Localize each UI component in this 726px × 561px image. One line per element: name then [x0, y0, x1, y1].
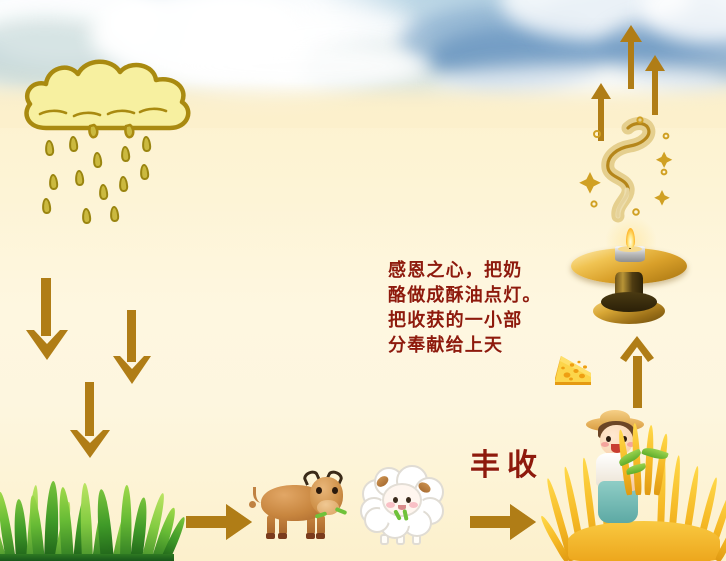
cloud-puff	[170, 44, 430, 88]
lamp-flame	[626, 228, 635, 248]
sheep-wool-puff	[396, 465, 428, 497]
grass-icon	[0, 466, 174, 561]
raindrop-icon	[109, 206, 119, 223]
raindrop-icon	[139, 164, 149, 181]
cow-grass-bite	[315, 511, 328, 519]
farmer-eye	[622, 436, 627, 442]
cow-leg	[307, 515, 315, 535]
raindrop-icon	[44, 140, 54, 157]
caption-line-2: 酪做成酥油点灯。	[388, 283, 588, 308]
cow-leg	[279, 515, 287, 535]
cloud-puff	[300, 40, 530, 96]
sheep-ear	[417, 480, 433, 495]
farmer-blush	[627, 442, 635, 447]
cow-leg	[267, 515, 275, 535]
farmer-eye	[606, 436, 611, 442]
sheep-face	[382, 483, 422, 517]
lamp-wax	[618, 246, 642, 252]
sky-gradient	[0, 0, 726, 128]
sun-glow	[120, 0, 420, 122]
cloud-puff	[640, 0, 726, 44]
sky-horizon-fade	[0, 82, 726, 128]
caption-line-4: 分奉献给上天	[388, 333, 588, 358]
lamp-wick	[629, 242, 631, 249]
sheep-wool-puff	[380, 511, 410, 539]
cloud-puff	[540, 0, 726, 66]
sheep-grass-bite	[402, 509, 408, 521]
harvest-label: 丰收	[470, 440, 544, 484]
arrow-down-head	[26, 330, 68, 360]
cloud-puff	[90, 0, 300, 80]
lamp-base-shadow	[601, 292, 657, 312]
sheep-wool-puff	[414, 477, 444, 507]
sheep-mouth	[398, 505, 406, 510]
sheep-ear	[375, 474, 391, 489]
raindrops-group	[16, 128, 206, 238]
sheep-wool-puff	[402, 509, 432, 537]
arrow-up-sky-1	[620, 25, 642, 89]
sparkle-icon	[579, 152, 672, 206]
wheat-background	[564, 441, 724, 561]
farmer-arm	[620, 467, 641, 493]
sheep-wool-core	[380, 487, 424, 527]
raindrop-icon	[68, 136, 78, 153]
farmer-head	[600, 425, 633, 456]
butter-lamp-icon	[571, 232, 687, 332]
cow-hoof	[278, 533, 287, 539]
sheep-eye	[393, 497, 398, 503]
arrow-down-head	[113, 356, 151, 384]
arrow-up-head	[620, 336, 654, 362]
arrow-up-sky-2	[645, 55, 665, 115]
sheep-cheek	[386, 502, 395, 508]
cow-leg	[317, 515, 325, 535]
agriculture-cycle-illustration: 感恩之心，把奶 酪做成酥油点灯。 把收获的一小部 分奉献给上天 丰收	[0, 0, 726, 561]
caption-text: 感恩之心，把奶 酪做成酥油点灯。 把收获的一小部 分奉献给上天	[388, 258, 588, 358]
farmer-hair	[598, 421, 634, 439]
sheep-grass-bite	[393, 509, 402, 521]
sky-background	[0, 0, 726, 128]
caption-line-3: 把收获的一小部	[388, 308, 588, 333]
raindrop-icon	[81, 208, 91, 225]
cow-eye	[316, 487, 322, 494]
cow-grass-bite	[335, 507, 348, 515]
farmer-blush	[601, 442, 609, 447]
lamp-cup	[615, 246, 645, 262]
cow-hoof	[316, 533, 325, 539]
arrow-down-2	[113, 310, 151, 386]
cloud-puff	[500, 0, 690, 40]
lamp-base	[593, 298, 665, 324]
raindrop-icon	[92, 152, 102, 169]
arrow-right-2	[470, 502, 536, 542]
raindrop-icon	[141, 136, 151, 153]
sheep-wool-puff	[362, 479, 392, 509]
incense-smoke-icon	[578, 112, 682, 224]
cow-horn	[325, 468, 344, 485]
cow-head	[310, 477, 343, 515]
farmer-with-wheat-icon	[564, 411, 724, 561]
wheat-bundle	[624, 425, 666, 495]
sheep-wool-puff	[360, 497, 388, 525]
raindrop-icon	[120, 146, 130, 163]
arrow-right-head	[470, 502, 536, 542]
sheep-leg	[396, 534, 405, 545]
arrow-down-3	[70, 382, 110, 460]
cloud-puff	[600, 14, 726, 86]
cloud-puff	[430, 26, 610, 90]
lamp-plate	[571, 248, 687, 284]
cloud-puff	[240, 8, 430, 84]
lamp-glow	[605, 216, 657, 268]
cow-muzzle	[317, 500, 339, 515]
farmer-pants	[598, 481, 638, 523]
cow-hoof	[306, 533, 315, 539]
cow-body	[261, 485, 327, 521]
raindrop-icon	[41, 198, 51, 215]
cheese-wedge-icon	[551, 349, 599, 389]
cow-icon	[255, 463, 347, 541]
raindrop-icon	[74, 170, 84, 187]
arrow-right-1	[186, 502, 252, 542]
farmer-mouth	[611, 444, 623, 453]
arrow-up-offering	[620, 336, 654, 408]
wheat-mound	[568, 521, 720, 561]
sheep-leg	[412, 534, 421, 545]
arrow-down-1	[26, 278, 68, 360]
sheep-eye	[406, 497, 411, 503]
sheep-wool-puff	[374, 467, 404, 497]
smoke-svg	[578, 112, 682, 224]
cow-tail	[253, 487, 268, 503]
arrow-down-head	[70, 430, 110, 458]
cow-eye	[332, 487, 338, 494]
farmer-hat-brim	[586, 417, 644, 432]
arrow-right-head	[186, 502, 252, 542]
grass-ground	[0, 554, 174, 561]
cloud-svg	[16, 56, 201, 148]
cow-hoof	[266, 533, 275, 539]
cow-horn	[301, 468, 320, 485]
raindrop-icon	[118, 176, 128, 193]
sheep-cheek	[409, 502, 418, 508]
caption-line-1: 感恩之心，把奶	[388, 258, 588, 283]
sheep-wool-puff	[416, 497, 444, 525]
raindrop-icon	[98, 184, 108, 201]
lamp-stem	[615, 272, 643, 306]
sheep-wool-puff	[364, 507, 390, 533]
cloud-puff	[400, 4, 610, 80]
cheese-svg	[551, 349, 599, 389]
cloud-puff	[430, 64, 726, 100]
cloud-puff	[0, 0, 160, 66]
sheep-icon	[358, 461, 446, 545]
cloud-puff	[0, 18, 130, 88]
raindrop-icon	[48, 174, 58, 191]
cow-tail-tuft	[249, 501, 256, 508]
sheep-leg	[380, 534, 389, 545]
farmer-shirt	[596, 453, 638, 487]
farmer-hat-crown	[600, 410, 630, 426]
rain-cloud-icon	[16, 56, 201, 146]
arrow-up-sky-3	[591, 83, 611, 141]
